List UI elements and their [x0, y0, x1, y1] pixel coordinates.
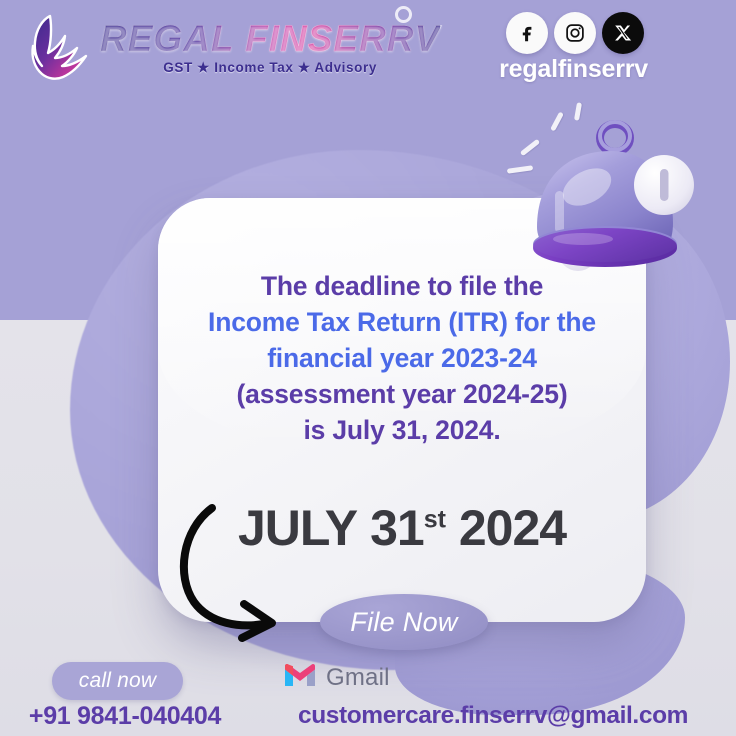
- phone-number[interactable]: +91 9841-040404: [0, 702, 250, 731]
- headline-ordinal: st: [424, 505, 446, 533]
- message-block: The deadline to file the Income Tax Retu…: [158, 268, 646, 448]
- gmail-label: Gmail: [326, 664, 390, 692]
- message-line: The deadline to file the: [158, 268, 646, 304]
- social-handle: regalfinserrv: [499, 55, 648, 84]
- instagram-icon[interactable]: [554, 12, 596, 54]
- headline-year: 2024: [459, 500, 566, 556]
- logo-subtitle: GST ★ Income Tax ★ Advisory: [163, 60, 377, 76]
- call-now-badge[interactable]: call now: [52, 662, 183, 700]
- eagle-logo-icon: [20, 10, 92, 86]
- social-links: [506, 12, 644, 54]
- x-twitter-icon[interactable]: [602, 12, 644, 54]
- message-line: financial year 2023-24: [158, 340, 646, 376]
- call-now-label: call now: [79, 669, 156, 693]
- ring-decoration-icon: [395, 6, 412, 23]
- message-line: (assessment year 2024-25): [158, 376, 646, 412]
- poster-canvas: REGAL FINSERRV GST ★ Income Tax ★ Adviso…: [0, 0, 736, 736]
- message-line: is July 31, 2024.: [158, 412, 646, 448]
- message-line: Income Tax Return (ITR) for the: [158, 304, 646, 340]
- curved-arrow-icon: [168, 498, 303, 648]
- email-address[interactable]: customercare.finserrv@gmail.com: [250, 702, 736, 730]
- notification-bell-icon: [495, 105, 725, 295]
- file-now-label: File Now: [350, 607, 457, 638]
- facebook-icon[interactable]: [506, 12, 548, 54]
- brand-wordmark: REGAL FINSERRV GST ★ Income Tax ★ Adviso…: [100, 20, 440, 76]
- file-now-button[interactable]: File Now: [320, 594, 488, 650]
- gmail-row: Gmail: [283, 662, 390, 693]
- headline-day: 31: [370, 500, 424, 556]
- brand-logo: REGAL FINSERRV GST ★ Income Tax ★ Adviso…: [20, 10, 440, 86]
- gmail-logo-icon: [283, 662, 317, 693]
- logo-title: REGAL FINSERRV: [100, 20, 440, 57]
- header-bar: REGAL FINSERRV GST ★ Income Tax ★ Adviso…: [0, 0, 736, 100]
